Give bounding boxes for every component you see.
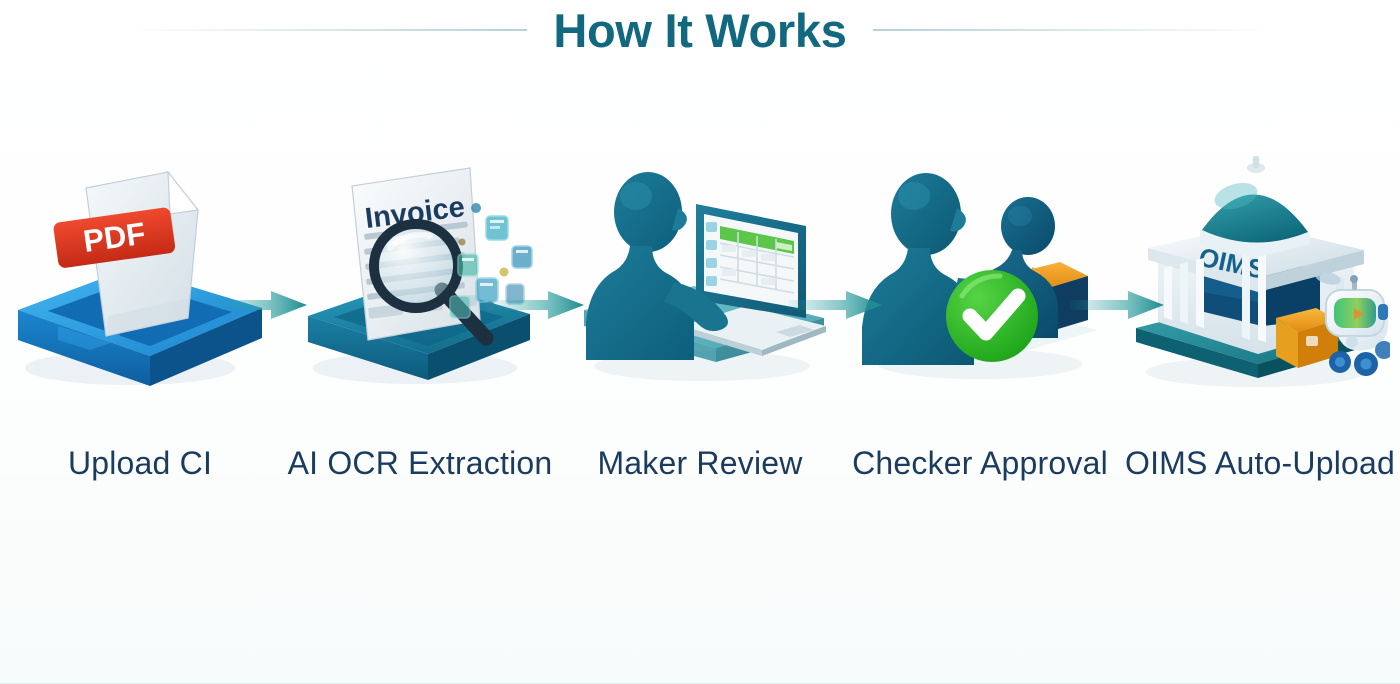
robot-icon (1326, 275, 1390, 376)
person-laptop-spreadsheet-icon (570, 150, 830, 400)
step-ai-ocr-extraction[interactable]: Invoice (280, 150, 560, 520)
title-rule-right (873, 29, 1273, 31)
title-rule-left (127, 29, 527, 31)
flow-arrow-3 (788, 288, 884, 322)
flow-arrow-2 (490, 288, 586, 322)
header: How It Works (0, 0, 1400, 60)
step-label-ai-ocr-extraction: AI OCR Extraction (280, 445, 560, 482)
flow-arrow-4 (1070, 288, 1166, 322)
step-maker-review[interactable]: Maker Review (560, 150, 840, 520)
steps-row: PDF Upload CI (0, 150, 1400, 520)
step-label-upload-ci: Upload CI (0, 445, 280, 482)
how-it-works-infographic: How It Works (0, 0, 1400, 684)
invoice-magnifier-icon: Invoice (290, 150, 550, 400)
step-label-maker-review: Maker Review (560, 445, 840, 482)
flow-arrow-1 (213, 288, 309, 322)
two-people-green-check-icon (850, 150, 1110, 400)
pdf-document-inbox-tray-icon: PDF (10, 150, 270, 400)
step-checker-approval[interactable]: Checker Approval (840, 150, 1120, 520)
step-label-checker-approval: Checker Approval (840, 445, 1120, 482)
step-oims-auto-upload[interactable]: OIMS (1120, 150, 1400, 520)
step-label-oims-auto-upload: OIMS Auto-Upload (1120, 445, 1400, 482)
step-upload-ci[interactable]: PDF Upload CI (0, 150, 280, 520)
page-title: How It Works (553, 7, 846, 54)
bank-building-robot-icon: OIMS (1130, 150, 1390, 400)
